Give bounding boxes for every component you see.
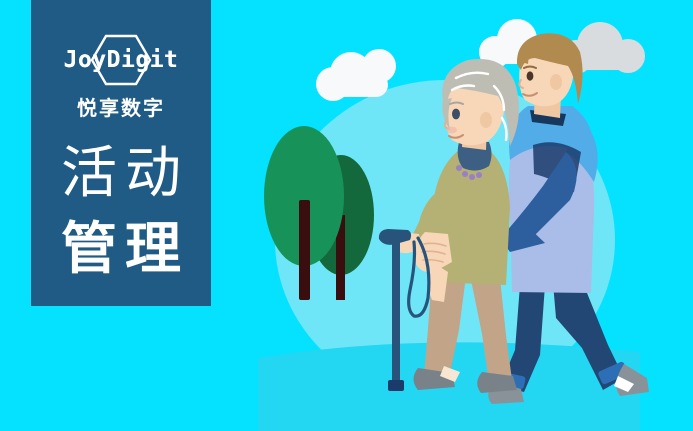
man-ear xyxy=(550,74,562,90)
logo-subtitle: 悦享数字 xyxy=(31,92,211,121)
poster-canvas: JoyDigit 悦享数字 活动 管理 xyxy=(0,0,693,431)
info-panel: JoyDigit 悦享数字 活动 管理 xyxy=(31,0,211,306)
man-eye xyxy=(527,71,534,80)
brand-logo: JoyDigit 悦享数字 xyxy=(31,34,211,121)
cane-tip xyxy=(388,380,404,391)
woman-cheek xyxy=(447,127,457,134)
woman-eye xyxy=(452,109,460,120)
page-title-line-2: 管理 xyxy=(31,212,211,288)
page-title-line-1: 活动 xyxy=(31,136,211,212)
woman-ear xyxy=(480,112,492,128)
logo-mark: JoyDigit xyxy=(56,34,186,86)
logo-wordmark: JoyDigit xyxy=(56,34,186,86)
cane-shaft xyxy=(392,240,400,388)
page-title: 活动 管理 xyxy=(31,136,211,288)
